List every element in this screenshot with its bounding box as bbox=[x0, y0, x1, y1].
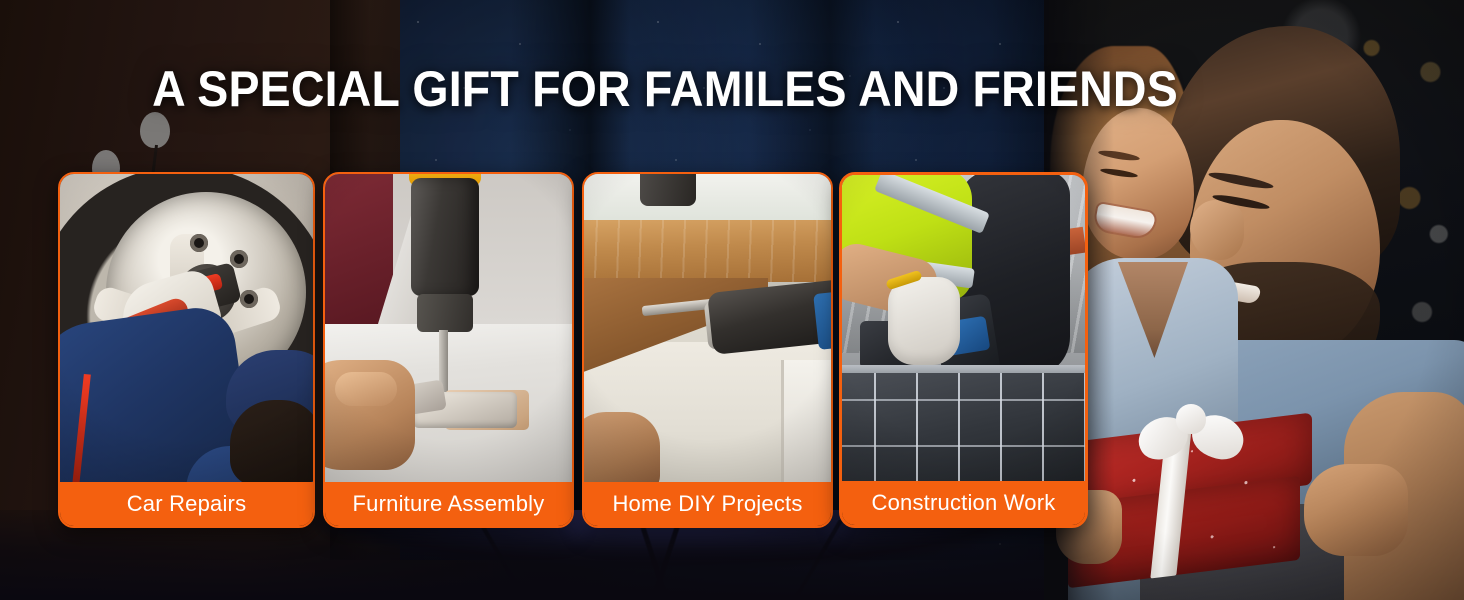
construction-work-image bbox=[842, 175, 1085, 487]
man-hand bbox=[1304, 464, 1408, 556]
card-caption-furniture-assembly: Furniture Assembly bbox=[325, 482, 572, 526]
car-repairs-image bbox=[60, 174, 313, 486]
category-card-list: Car Repairs bbox=[58, 172, 1088, 528]
furniture-assembly-image bbox=[325, 174, 572, 486]
balloon-ornament-icon bbox=[140, 112, 170, 148]
home-diy-projects-image bbox=[584, 174, 831, 486]
category-card-car-repairs[interactable]: Car Repairs bbox=[58, 172, 315, 528]
category-card-construction-work[interactable]: Construction Work bbox=[839, 172, 1088, 528]
category-card-furniture-assembly[interactable]: Furniture Assembly bbox=[323, 172, 574, 528]
card-caption-construction-work: Construction Work bbox=[842, 481, 1085, 525]
card-caption-car-repairs: Car Repairs bbox=[60, 482, 313, 526]
card-caption-home-diy-projects: Home DIY Projects bbox=[584, 482, 831, 526]
gift-bow bbox=[1138, 404, 1246, 462]
promo-banner: A SPECIAL GIFT FOR FAMILES AND FRIENDS bbox=[0, 0, 1464, 600]
page-title: A SPECIAL GIFT FOR FAMILES AND FRIENDS bbox=[47, 62, 1284, 116]
gift-box bbox=[1054, 418, 1322, 588]
man-nose bbox=[1190, 200, 1244, 260]
category-card-home-diy-projects[interactable]: Home DIY Projects bbox=[582, 172, 833, 528]
